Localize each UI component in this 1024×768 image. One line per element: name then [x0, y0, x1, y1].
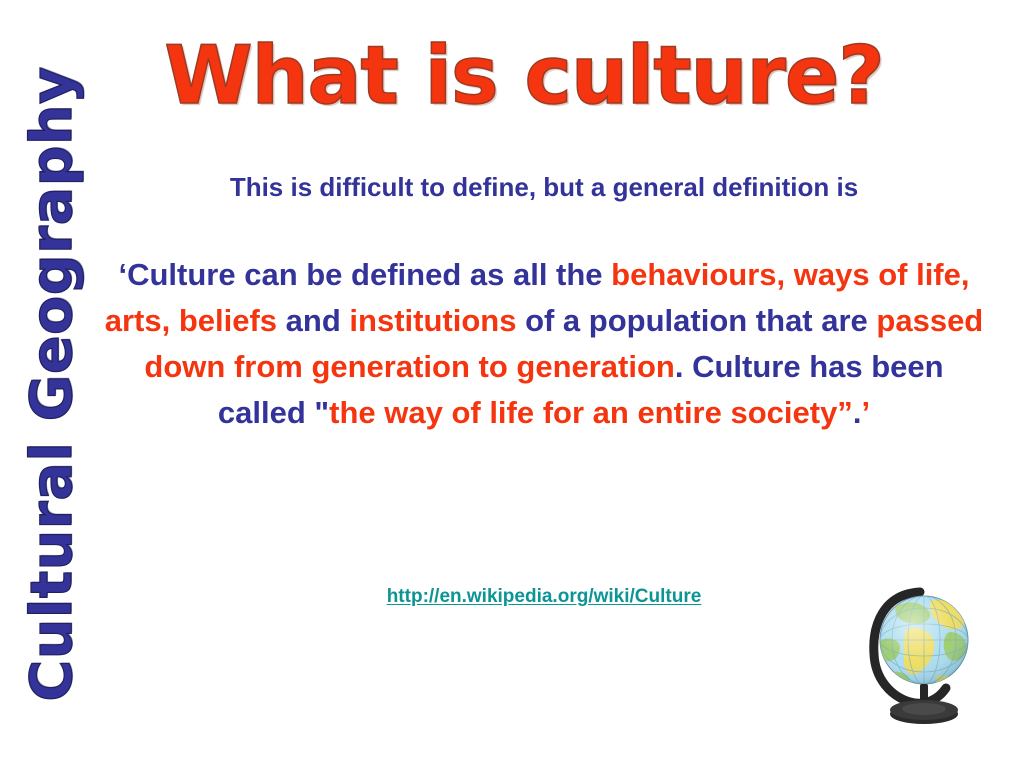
quote-segment: ‘Culture can be defined as all the	[118, 257, 611, 292]
quote-segment: institutions	[349, 303, 525, 338]
globe-icon	[862, 580, 980, 730]
quote-segment: the way of life for an entire society”	[329, 395, 853, 430]
source-link-container: http://en.wikipedia.org/wiki/Culture	[104, 586, 984, 608]
quote-segment: .	[675, 349, 692, 384]
quote-segment: of a population that are	[525, 303, 876, 338]
quote-segment: ’	[861, 395, 870, 430]
side-title-container: Cultural Geography	[0, 0, 104, 768]
page-title: What is culture?	[104, 30, 944, 122]
lead-in-text: This is difficult to define, but a gener…	[104, 170, 984, 204]
side-title-text: Cultural Geography	[20, 8, 84, 760]
definition-quote: ‘Culture can be defined as all the behav…	[104, 252, 984, 436]
source-link[interactable]: http://en.wikipedia.org/wiki/Culture	[387, 586, 702, 607]
quote-segment: and	[286, 303, 350, 338]
slide-canvas: Cultural Geography What is culture? This…	[0, 0, 1024, 768]
